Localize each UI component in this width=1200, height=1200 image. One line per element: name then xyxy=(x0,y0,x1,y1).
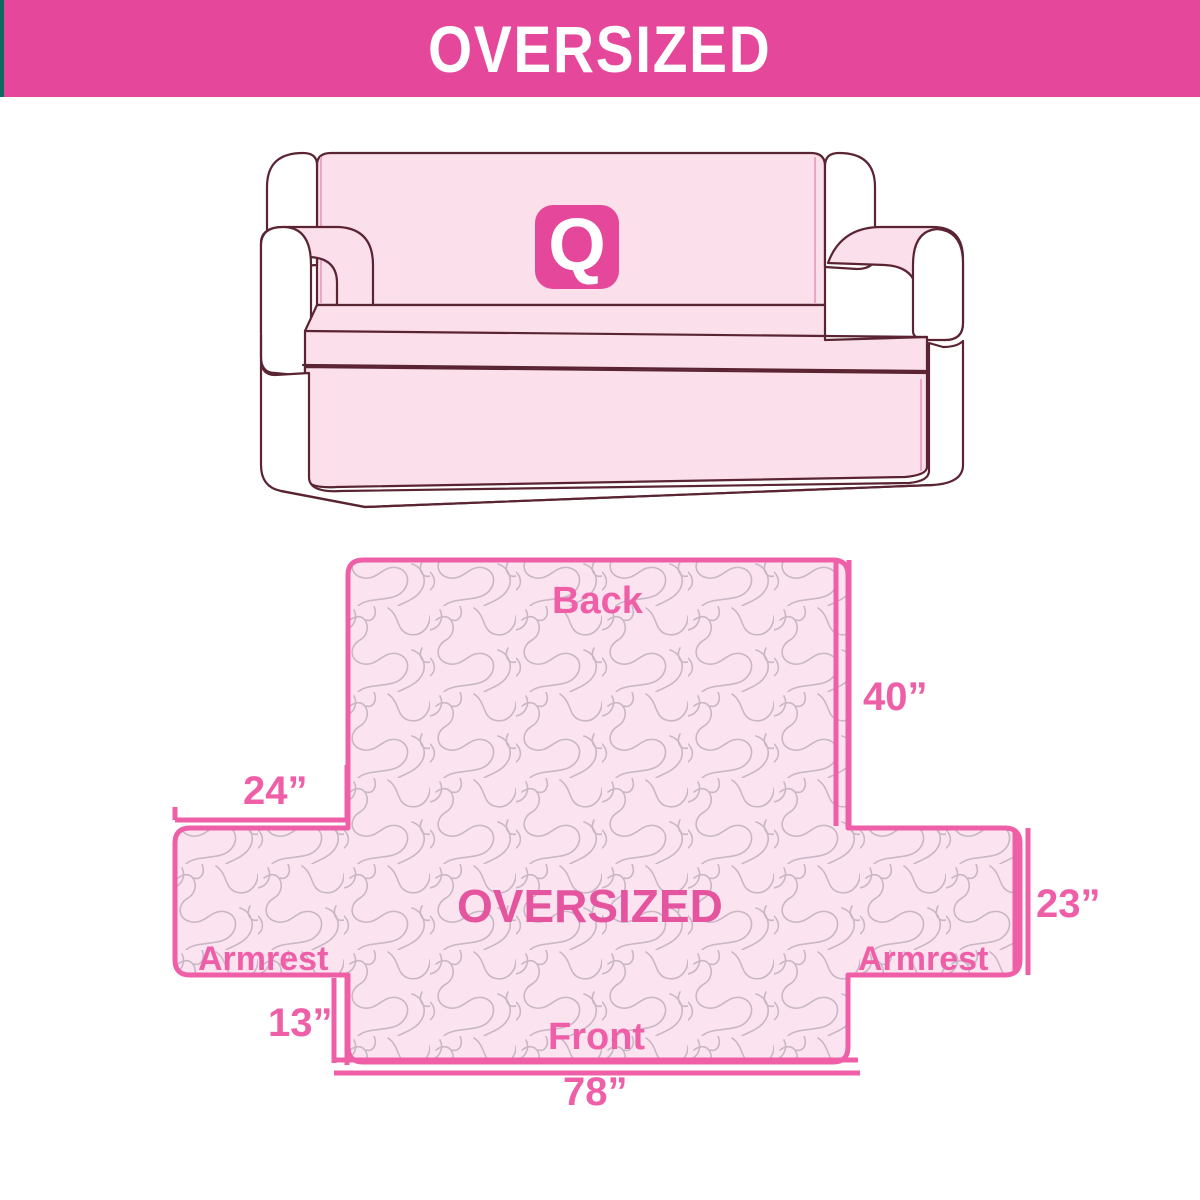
label-back: Back xyxy=(552,582,643,620)
sofa-seat-front xyxy=(305,367,927,487)
label-armrest-right: Armrest xyxy=(858,942,988,976)
page-title: OVERSIZED xyxy=(428,16,771,82)
sofa-illustration: .ol { fill:none; stroke:#5a2432; stroke-… xyxy=(245,135,975,510)
dimension-label-armrest-height: 23” xyxy=(1036,884,1101,924)
dimension-line-front-drop xyxy=(334,976,347,1065)
dimension-label-total-width: 78” xyxy=(563,1072,628,1112)
header-edge-stripe xyxy=(0,0,4,97)
label-front: Front xyxy=(548,1018,645,1056)
dimension-label-back-height: 40” xyxy=(863,677,928,717)
dimension-label-front-drop: 13” xyxy=(268,1003,333,1043)
brand-logo-letter: Q xyxy=(548,208,606,282)
brand-logo-badge: Q xyxy=(535,205,619,289)
label-center-size: OVERSIZED xyxy=(457,883,723,929)
dimension-label-armrest-top: 24” xyxy=(243,771,308,811)
header-banner: OVERSIZED xyxy=(0,0,1200,97)
label-armrest-left: Armrest xyxy=(198,942,328,976)
